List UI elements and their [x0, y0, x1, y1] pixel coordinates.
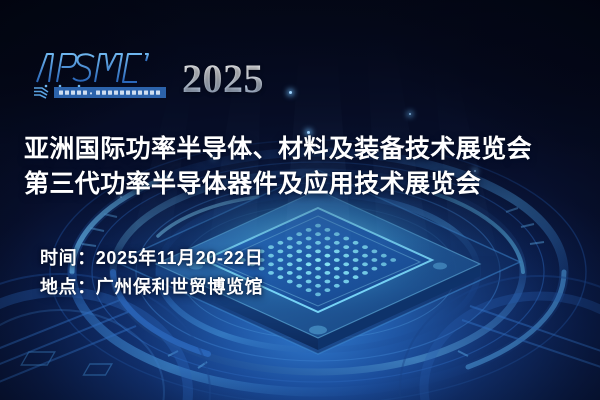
- event-venue: 地点：广州保利世贸博览馆: [40, 273, 263, 302]
- banner-content: 2025 亚洲国际功率半导体、材料及装备技术展览会 第三代功率半导体器件及应用技…: [0, 0, 600, 400]
- apsme-logo-icon: [32, 48, 168, 100]
- title-block: 亚洲国际功率半导体、材料及装备技术展览会 第三代功率半导体器件及应用技术展览会: [24, 132, 532, 202]
- info-block: 时间：2025年11月20-22日 地点：广州保利世贸博览馆: [40, 244, 263, 302]
- logo-row: 2025: [32, 48, 264, 100]
- title-line-2: 第三代功率半导体器件及应用技术展览会: [24, 167, 532, 202]
- apsme-logo: [32, 48, 168, 100]
- title-line-1: 亚洲国际功率半导体、材料及装备技术展览会: [24, 132, 532, 167]
- year-label: 2025: [182, 59, 264, 99]
- exhibition-banner: 2025 亚洲国际功率半导体、材料及装备技术展览会 第三代功率半导体器件及应用技…: [0, 0, 600, 400]
- event-date: 时间：2025年11月20-22日: [40, 244, 263, 273]
